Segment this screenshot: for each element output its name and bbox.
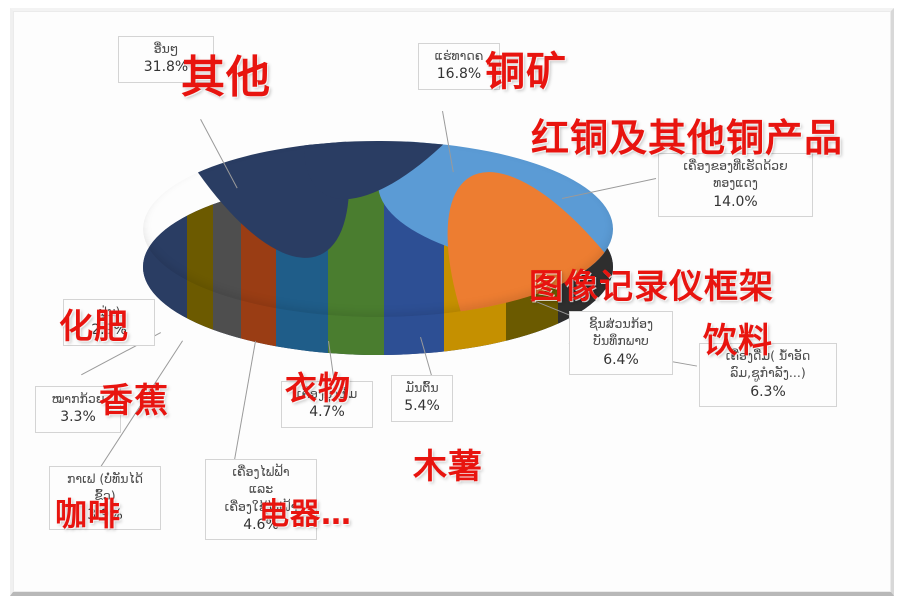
annotation-beverage: 饮料 [703,313,773,362]
callout-percent: 14.0% [666,193,805,212]
annotation-appliance: 电器… [259,489,352,533]
annotation-copper-products: 红铜及其他铜产品 [531,107,843,162]
callout-label-2: ບັນທຶກພາບ [577,332,665,349]
annotation-clothing: 衣物 [285,363,351,409]
annotation-cassava: 木薯 [413,439,483,488]
callout-label: ແຮ່ທາດຄ [426,47,492,64]
callout-percent: 5.4% [399,397,445,416]
callout-cassava[interactable]: ມັນຕົ້ນ 5.4% [391,375,453,422]
callout-label: ມັນຕົ້ນ [399,379,445,396]
callout-percent: 6.3% [707,383,829,402]
annotation-banana: 香蕉 [99,373,169,422]
callout-copper-products[interactable]: ເຄື່ອງຂອງທີ່ເຮັດດ້ວຍ ທອງແດງ 14.0% [658,153,813,217]
annotation-other: 其他 [181,41,271,105]
callout-label-2: ທອງແດງ [666,174,805,191]
annotation-copper-ore: 铜矿 [485,39,567,97]
callout-percent: 6.4% [577,351,665,370]
callout-camera[interactable]: ຊິ້ນສ່ວນກ້ອງ ບັນທຶກພາບ 6.4% [569,311,673,375]
annotation-image-recorder: 图像记录仪框架 [529,259,774,308]
annotation-coffee: 咖啡 [55,489,121,535]
slide-canvas: ອື່ນໆ 31.8% ແຮ່ທາດຄ 16.8% ເຄື່ອງຂອງທີ່ເຮ… [10,8,894,596]
callout-percent: 16.8% [426,65,492,84]
callout-label-2: ລົມ,ຊູກຳລັງ...) [707,364,829,381]
annotation-fertilizer: 化肥 [59,299,129,348]
callout-label: ເຄື່ອງໄຟຟ້າ [213,463,309,480]
callout-label: ກາເຟ (ບໍ່ທັນໄດ້ [57,470,153,487]
screenshot-frame: ອື່ນໆ 31.8% ແຮ່ທາດຄ 16.8% ເຄື່ອງຂອງທີ່ເຮ… [0,0,904,610]
callout-label: ຊິ້ນສ່ວນກ້ອງ [577,315,665,332]
